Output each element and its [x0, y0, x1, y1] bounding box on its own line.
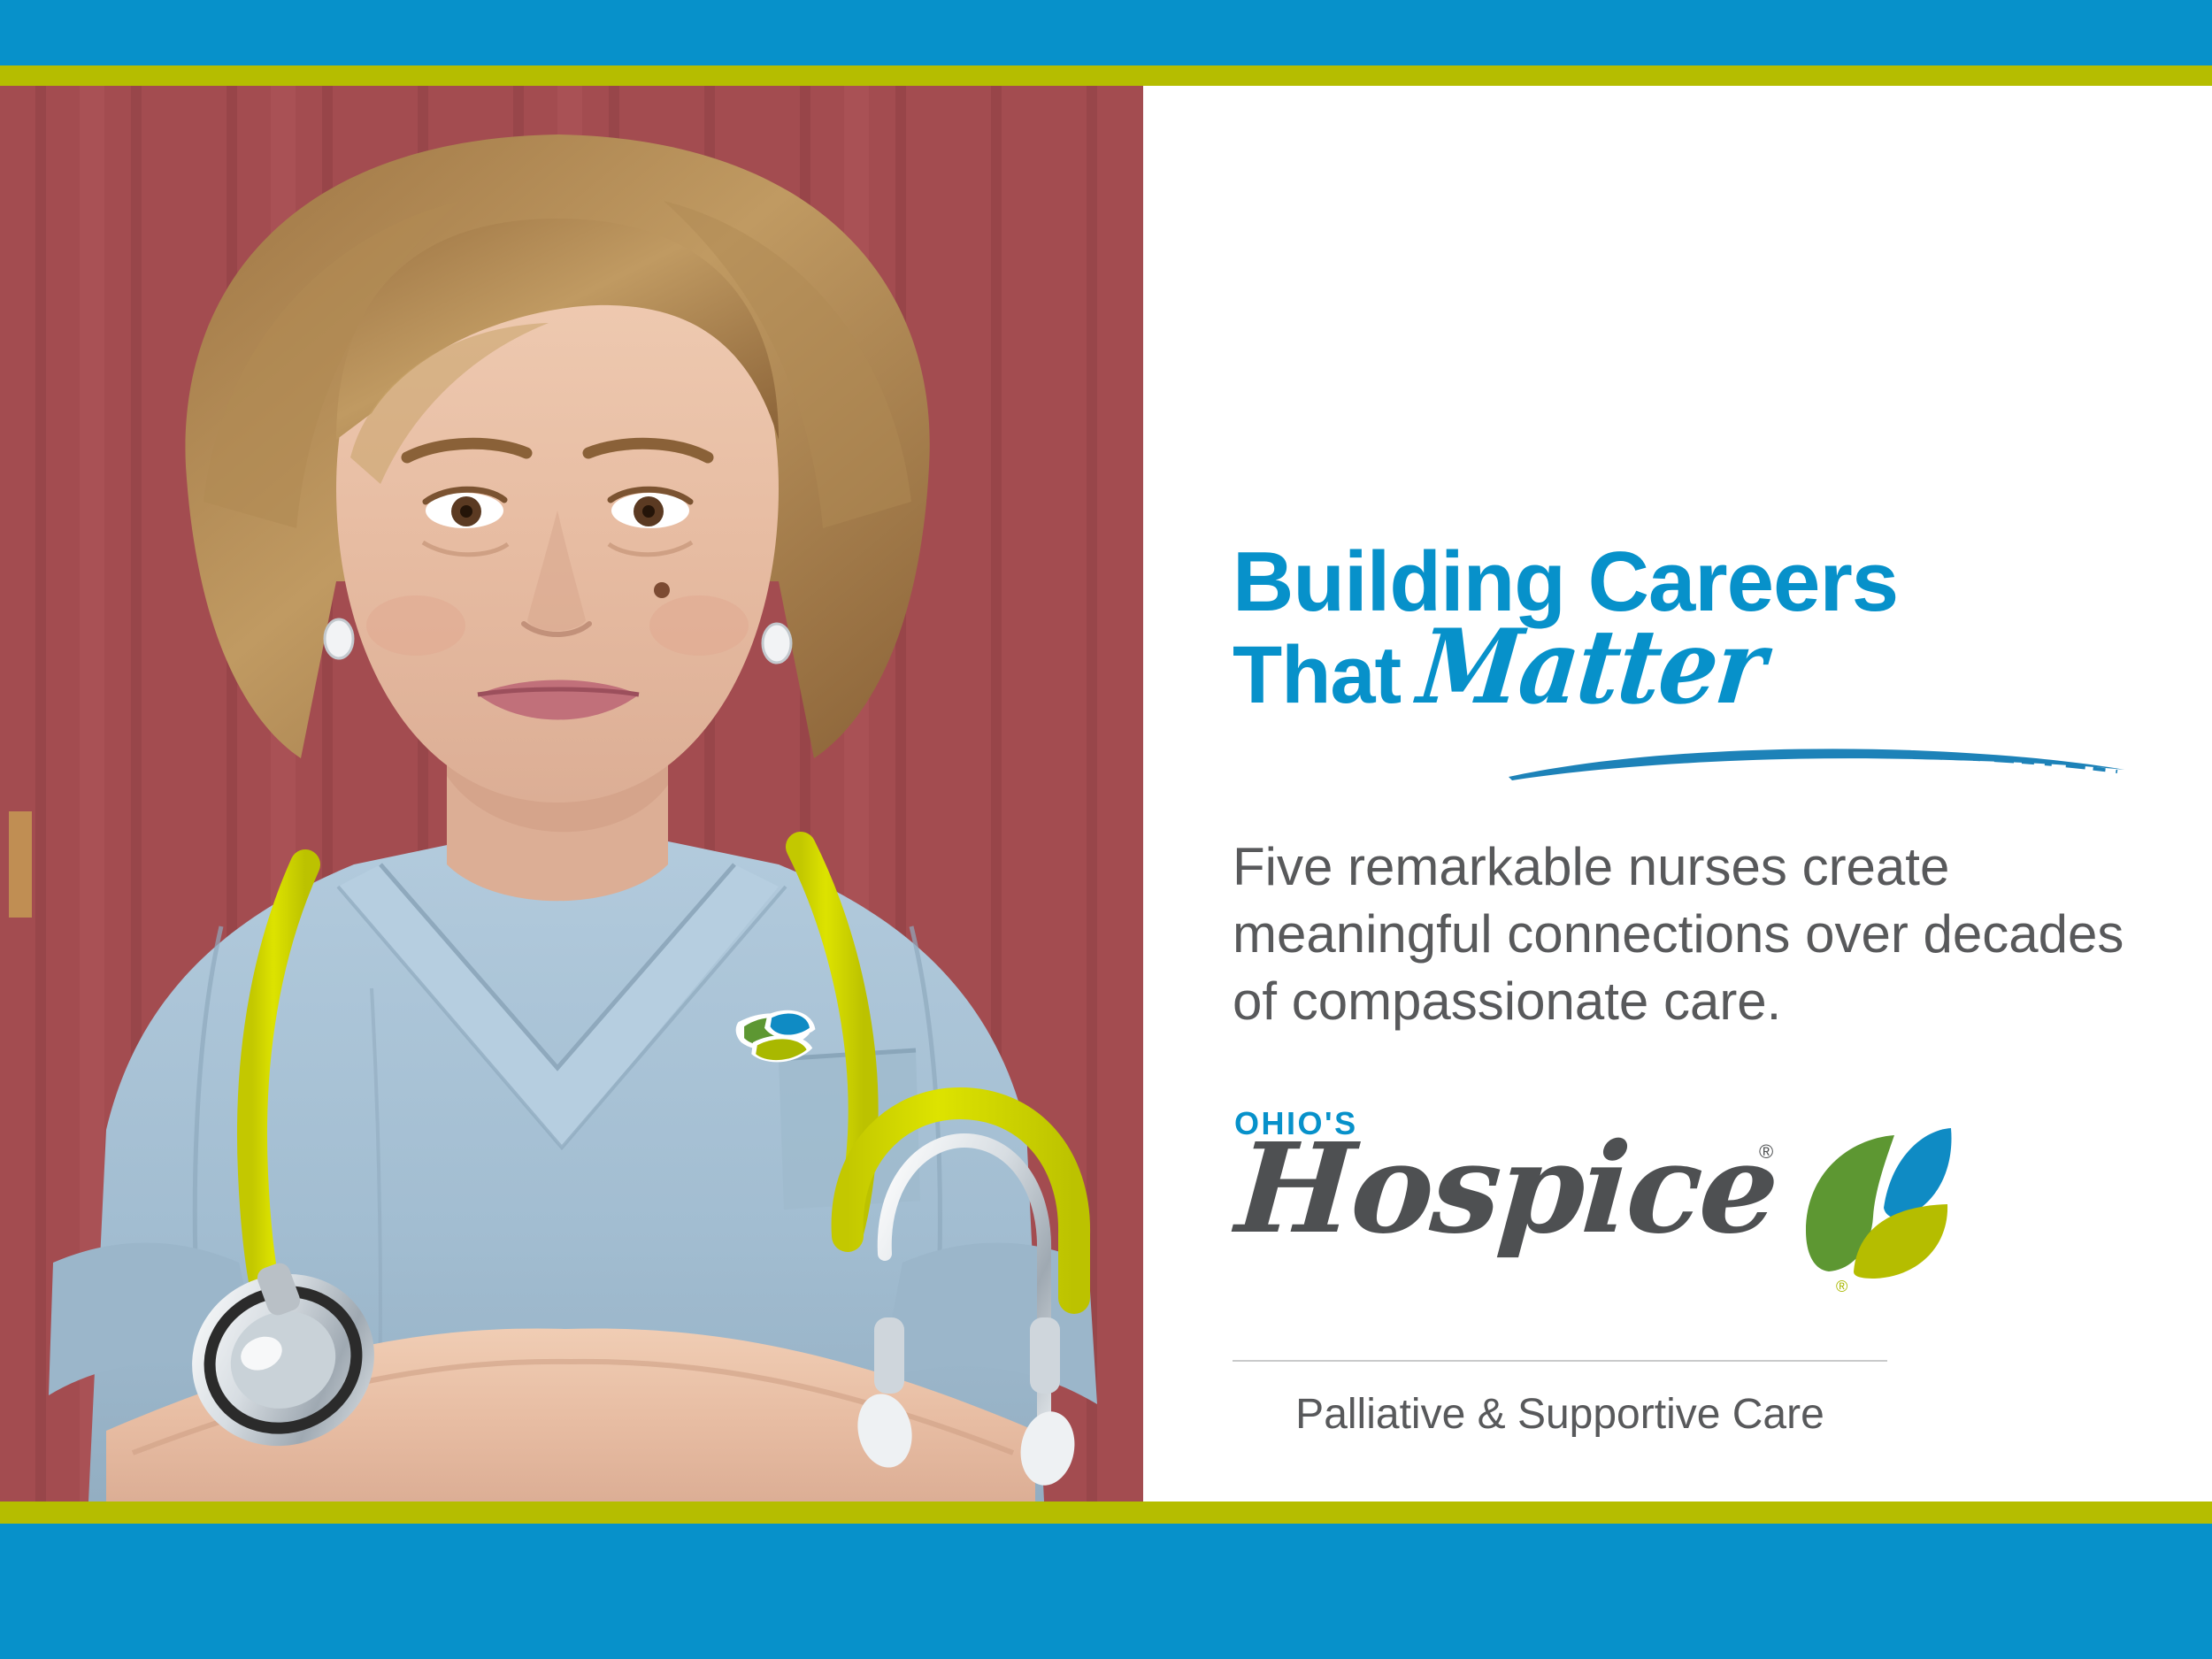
headline-matter-script: Matter — [1415, 625, 1768, 710]
content-panel: Building Careers That Matter Five remark… — [1143, 86, 2212, 1502]
brand-band-bottom-green — [0, 1502, 2212, 1524]
logo-wordmark-hospice: Hospice — [1233, 1123, 1780, 1256]
logo-divider-rule — [1233, 1360, 1887, 1362]
brand-band-top-blue — [0, 0, 2212, 65]
brand-band-bottom-blue — [0, 1524, 2212, 1659]
ohios-hospice-logo: OHIO'S Hospice ® ® — [1233, 1103, 1958, 1325]
nurse-portrait-photo — [0, 86, 1143, 1502]
headline-line-2: That Matter — [1233, 625, 2170, 718]
subheadline-text: Five remarkable nurses create meaningful… — [1233, 833, 2126, 1035]
headline-block: Building Careers That Matter — [1233, 540, 2170, 718]
three-leaf-icon — [1799, 1123, 1954, 1282]
brush-stroke-underline-icon — [1507, 741, 2126, 782]
logo-tagline: Palliative & Supportive Care — [1233, 1388, 1887, 1441]
headline-that: That — [1233, 633, 1401, 718]
marketing-card: Building Careers That Matter Five remark… — [0, 0, 2212, 1659]
logo-leaf-registered-mark: ® — [1836, 1278, 1847, 1296]
brand-band-top-green — [0, 65, 2212, 86]
logo-registered-mark: ® — [1759, 1141, 1773, 1164]
nurse-portrait-illustration — [0, 86, 1143, 1502]
